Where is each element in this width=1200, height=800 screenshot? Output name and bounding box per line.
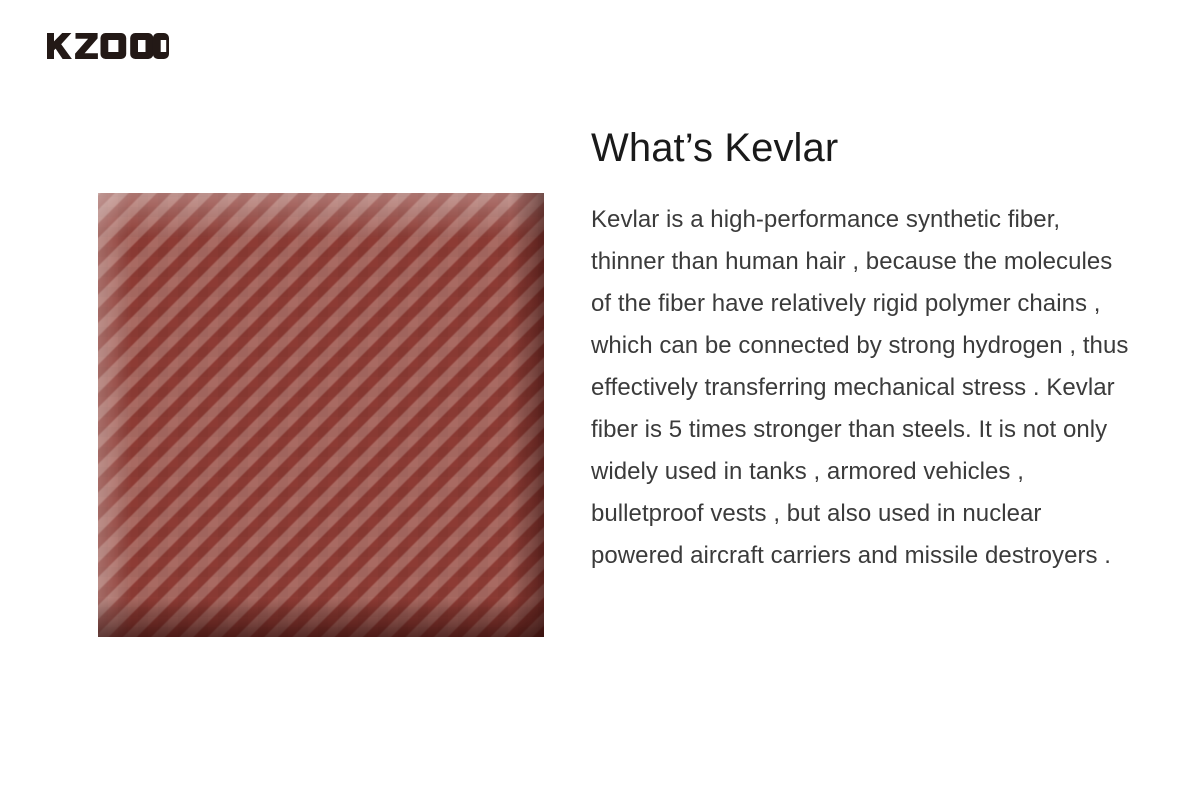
brand-logo-container: KZDOO xyxy=(47,30,169,62)
section-heading: What’s Kevlar xyxy=(591,126,1136,171)
carbon-fiber-texture-image xyxy=(98,193,544,637)
content-column: What’s Kevlar Kevlar is a high-performan… xyxy=(591,126,1136,577)
section-body-text: Kevlar is a high-performance synthetic f… xyxy=(591,199,1136,577)
kzdoo-wordmark-logo xyxy=(47,33,169,59)
weave-cell-overlay xyxy=(98,193,544,637)
